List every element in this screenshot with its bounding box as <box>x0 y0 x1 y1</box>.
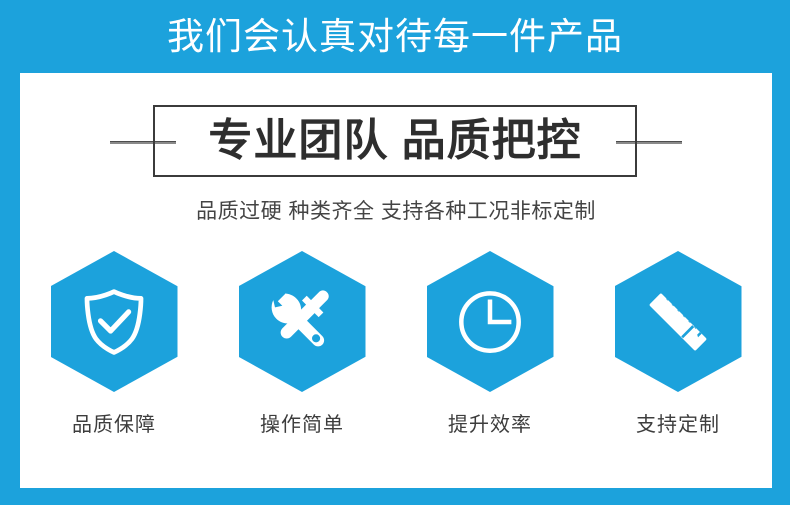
feature-label: 提升效率 <box>448 408 532 437</box>
feature-hexagon <box>239 251 366 392</box>
feature-hexagon <box>615 251 742 392</box>
feature-item: 提升效率 <box>410 251 570 437</box>
feature-label: 品质保障 <box>72 408 156 437</box>
feature-label: 支持定制 <box>636 408 720 437</box>
shield-check-icon <box>78 286 150 358</box>
headline-title: 专业团队 品质把控 <box>208 119 581 163</box>
feature-item: 支持定制 <box>598 251 758 437</box>
top-banner: 我们会认真对待每一件产品 <box>0 0 790 73</box>
wrench-hammer-icon <box>266 286 338 358</box>
content-panel: 专业团队 品质把控 品质过硬 种类齐全 支持各种工况非标定制 品质保障 <box>20 73 772 488</box>
feature-label: 操作简单 <box>260 408 344 437</box>
banner-title: 我们会认真对待每一件产品 <box>167 18 623 55</box>
promo-poster: 我们会认真对待每一件产品 专业团队 品质把控 品质过硬 种类齐全 支持各种工况非… <box>0 0 790 505</box>
feature-list: 品质保障 操作简单 <box>20 251 772 441</box>
headline-box: 专业团队 品质把控 <box>153 105 637 177</box>
headline-block: 专业团队 品质把控 <box>20 105 772 177</box>
clock-icon <box>454 286 526 358</box>
feature-item: 操作简单 <box>222 251 382 437</box>
feature-hexagon <box>427 251 554 392</box>
feature-hexagon <box>51 251 178 392</box>
feature-item: 品质保障 <box>34 251 194 437</box>
ruler-pen-icon <box>642 286 714 358</box>
headline-subtitle: 品质过硬 种类齐全 支持各种工况非标定制 <box>20 195 772 225</box>
